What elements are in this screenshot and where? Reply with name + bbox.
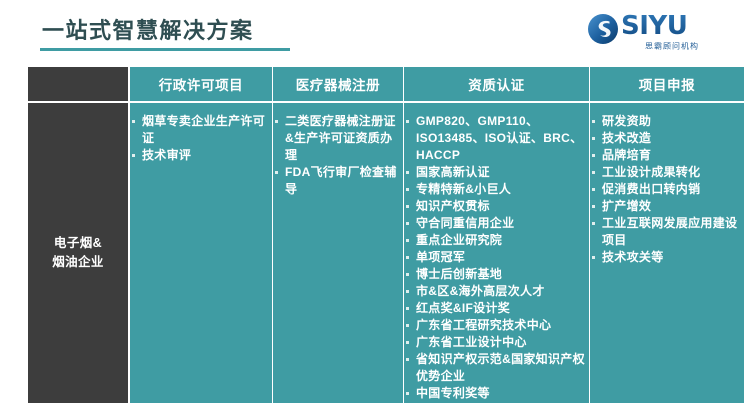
list-item: GMP820、GMP110、ISO13485、ISO认证、BRC、HACCP — [404, 113, 589, 164]
list-item: 烟草专卖企业生产许可证 — [130, 113, 272, 147]
table-row-label: 电子烟& 烟油企业 — [28, 103, 128, 403]
page-title: 一站式智慧解决方案 — [42, 13, 254, 45]
table-cell-col-5: 研发资助 技术改造 品牌培育 工业设计成果转化 促消费出口转内销 扩产增效 工业… — [590, 103, 744, 403]
logo-wordmark: SIYU — [621, 11, 687, 41]
list-item: 重点企业研究院 — [404, 232, 589, 249]
table-header-col-4: 资质认证 — [404, 67, 589, 101]
table-header-row: 行政许可项目 医疗器械注册 资质认证 项目申报 — [28, 67, 744, 101]
brand-logo: SIYU 思霸顾问机构 — [587, 11, 732, 55]
table-header-col-2: 行政许可项目 — [130, 67, 272, 101]
table-cell-col-2: 烟草专卖企业生产许可证 技术审评 — [130, 103, 272, 403]
list-item: 广东省工程研究技术中心 — [404, 317, 589, 334]
table-header-col-5-label: 项目申报 — [639, 74, 695, 94]
slide-canvas: 一站式智慧解决方案 SIYU 思霸顾问机构 — [0, 0, 744, 420]
table-row-label-line1: 电子烟& — [54, 236, 102, 250]
table-row-label-line2: 烟油企业 — [52, 255, 104, 269]
list-item: 技术攻关等 — [590, 249, 744, 266]
list-item: 市&区&海外高层次人才 — [404, 283, 589, 300]
column-divider — [589, 103, 591, 403]
list-item: 国家高新认证 — [404, 164, 589, 181]
table-header-col-3: 医疗器械注册 — [273, 67, 403, 101]
list-item: 工业互联网发展应用建设项目 — [590, 215, 744, 249]
list-item: 扩产增效 — [590, 198, 744, 215]
column-divider — [272, 103, 274, 403]
table-row-label-text: 电子烟& 烟油企业 — [52, 234, 104, 272]
table-header-corner — [28, 67, 128, 101]
list-item: 博士后创新基地 — [404, 266, 589, 283]
table-cell-col-4: GMP820、GMP110、ISO13485、ISO认证、BRC、HACCP 国… — [404, 103, 589, 403]
list-item: 研发资助 — [590, 113, 744, 130]
list-item: 中国专利奖等 — [404, 385, 589, 402]
list-item: 专精特新&小巨人 — [404, 181, 589, 198]
table-cell-col-3: 二类医疗器械注册证&生产许可证资质办理 FDA飞行审厂检查辅导 — [273, 103, 403, 403]
siyu-swirl-mark-icon — [587, 13, 619, 45]
table-row: 电子烟& 烟油企业 烟草专卖企业生产许可证 技术审评 二类医疗器械注册证&生产许… — [28, 103, 744, 403]
list-item: 广东省工业设计中心 — [404, 334, 589, 351]
list-item: 省知识产权示范&国家知识产权优势企业 — [404, 351, 589, 385]
table-header-col-5: 项目申报 — [590, 67, 744, 101]
table-header-col-3-label: 医疗器械注册 — [296, 74, 381, 94]
bullet-list-col-5: 研发资助 技术改造 品牌培育 工业设计成果转化 促消费出口转内销 扩产增效 工业… — [590, 113, 744, 266]
column-divider — [403, 103, 405, 403]
title-underline — [40, 48, 290, 51]
bullet-list-col-4: GMP820、GMP110、ISO13485、ISO认证、BRC、HACCP 国… — [404, 113, 589, 402]
list-item: 单项冠军 — [404, 249, 589, 266]
logo-subtext: 思霸顾问机构 — [645, 41, 699, 51]
slide-header: 一站式智慧解决方案 SIYU 思霸顾问机构 — [0, 0, 744, 58]
solutions-table: 行政许可项目 医疗器械注册 资质认证 项目申报 电子烟& 烟油企业 — [28, 67, 744, 403]
bullet-list-col-3: 二类医疗器械注册证&生产许可证资质办理 FDA飞行审厂检查辅导 — [273, 113, 403, 198]
table-header-col-4-label: 资质认证 — [468, 74, 524, 94]
list-item: 工业设计成果转化 — [590, 164, 744, 181]
list-item: 技术审评 — [130, 147, 272, 164]
list-item: 知识产权贯标 — [404, 198, 589, 215]
list-item: FDA飞行审厂检查辅导 — [273, 164, 403, 198]
bullet-list-col-2: 烟草专卖企业生产许可证 技术审评 — [130, 113, 272, 164]
list-item: 品牌培育 — [590, 147, 744, 164]
list-item: 守合同重信用企业 — [404, 215, 589, 232]
list-item: 二类医疗器械注册证&生产许可证资质办理 — [273, 113, 403, 164]
list-item: 促消费出口转内销 — [590, 181, 744, 198]
list-item: 技术改造 — [590, 130, 744, 147]
table-header-col-2-label: 行政许可项目 — [159, 74, 244, 94]
list-item: 红点奖&IF设计奖 — [404, 300, 589, 317]
